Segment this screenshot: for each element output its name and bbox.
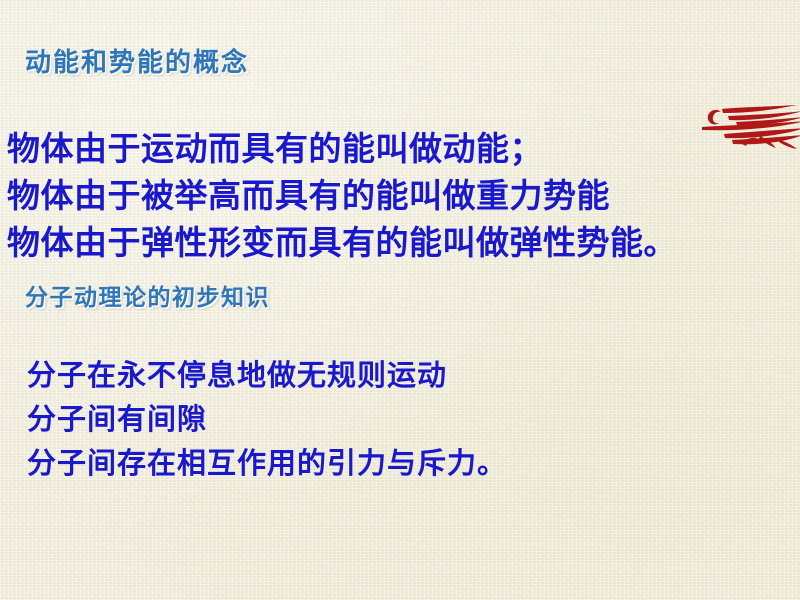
section-heading-molecular-kinetic-theory: 分子动理论的初步知识 [25, 283, 270, 313]
red-brush-stroke-ornament-icon [702, 96, 800, 152]
section-heading-kinetic-potential-energy: 动能和势能的概念 [25, 47, 249, 79]
body-line: 物体由于运动而具有的能叫做动能； [7, 125, 677, 172]
body-line: 分子间存在相互作用的引力与斥力。 [27, 441, 507, 485]
body-line: 分子间有间隙 [27, 397, 507, 441]
body-line: 分子在永不停息地做无规则运动 [27, 353, 507, 397]
section-body-molecular-kinetic-theory: 分子在永不停息地做无规则运动 分子间有间隙 分子间存在相互作用的引力与斥力。 [27, 353, 507, 485]
slide-canvas: 动能和势能的概念 物体由于运动而具有的能叫做动能； 物体由于被举高而具有的能叫做… [0, 0, 800, 600]
section-body-kinetic-potential-energy: 物体由于运动而具有的能叫做动能； 物体由于被举高而具有的能叫做重力势能 物体由于… [7, 125, 677, 266]
body-line: 物体由于被举高而具有的能叫做重力势能 [7, 172, 677, 219]
body-line: 物体由于弹性形变而具有的能叫做弹性势能。 [7, 219, 677, 266]
